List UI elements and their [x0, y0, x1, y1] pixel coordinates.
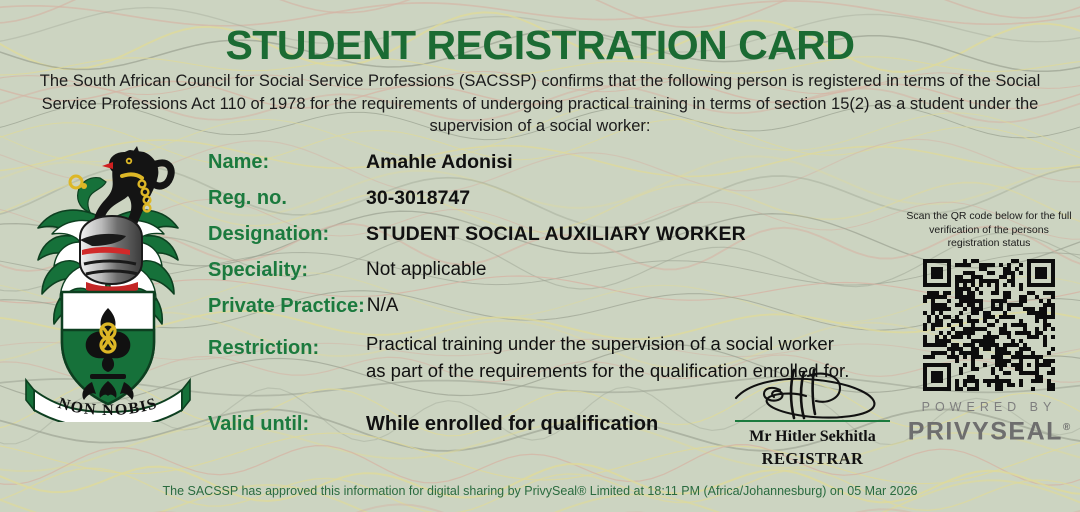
signatory-name: Mr Hitler Sekhitla	[715, 426, 910, 448]
qr-verification-panel: Scan the QR code below for the full veri…	[905, 210, 1073, 445]
qr-caption: Scan the QR code below for the full veri…	[905, 210, 1073, 251]
field-row-name: Name: Amahle Adonisi	[208, 144, 908, 180]
handwritten-signature-icon	[728, 368, 898, 420]
value-designation: STUDENT SOCIAL AUXILIARY WORKER	[366, 216, 746, 252]
student-registration-card: STUDENT REGISTRATION CARD The South Afri…	[0, 0, 1080, 512]
value-name: Amahle Adonisi	[366, 144, 513, 180]
label-private-practice: Private Practice:	[208, 288, 367, 324]
privyseal-brand-text: PRIVYSEAL	[908, 417, 1063, 445]
qr-code-icon[interactable]	[923, 259, 1055, 391]
approval-footer: The SACSSP has approved this information…	[0, 484, 1080, 498]
value-reg-no: 30-3018747	[366, 180, 470, 216]
privyseal-brand: PRIVYSEAL®	[905, 414, 1073, 445]
label-restriction: Restriction:	[208, 330, 366, 366]
value-valid-until: While enrolled for qualification	[366, 406, 658, 442]
value-restriction-line-1: Practical training under the supervision…	[366, 330, 849, 357]
page-title: STUDENT REGISTRATION CARD	[0, 22, 1080, 69]
field-row-designation: Designation: STUDENT SOCIAL AUXILIARY WO…	[208, 216, 908, 252]
field-row-speciality: Speciality: Not applicable	[208, 252, 908, 288]
label-name: Name:	[208, 144, 366, 180]
label-reg-no: Reg. no.	[208, 180, 366, 216]
label-speciality: Speciality:	[208, 252, 366, 288]
registered-mark: ®	[1063, 422, 1070, 433]
coat-of-arms-icon: NON NOBIS	[18, 142, 198, 422]
label-designation: Designation:	[208, 216, 366, 252]
value-speciality: Not applicable	[366, 252, 486, 288]
label-valid-until: Valid until:	[208, 406, 366, 442]
field-row-private-practice: Private Practice: N/A	[208, 288, 908, 324]
intro-paragraph: The South African Council for Social Ser…	[30, 70, 1050, 138]
signature-block: Mr Hitler Sekhitla REGISTRAR	[715, 368, 910, 470]
signatory-role: REGISTRAR	[715, 448, 910, 470]
powered-by-label: POWERED BY	[905, 400, 1073, 414]
signature-line	[735, 420, 890, 422]
field-row-reg-no: Reg. no. 30-3018747	[208, 180, 908, 216]
value-private-practice: N/A	[367, 288, 399, 324]
